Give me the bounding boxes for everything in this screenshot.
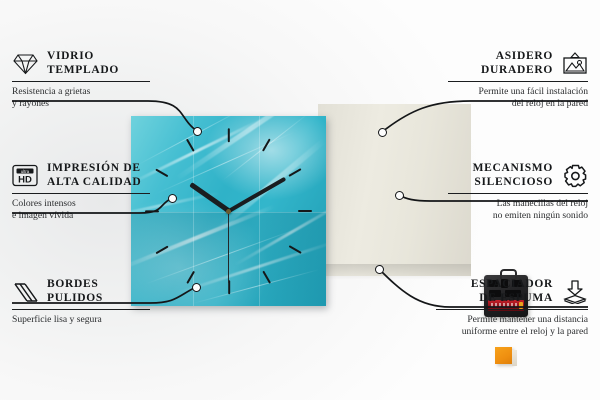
feature-vidrio-templado: VIDRIO TEMPLADO Resistencia a grietas y … [12, 50, 152, 110]
feature-description: Superficie lisa y segura [12, 314, 152, 326]
infographic-canvas: VIDRIO TEMPLADO Resistencia a grietas y … [0, 0, 600, 400]
foam-spacer [495, 347, 512, 364]
wall-hanger-icon [562, 52, 588, 76]
feature-title-line2: TEMPLADO [47, 64, 119, 76]
feature-description: Colores intensos e imagen vívida [12, 198, 152, 222]
feature-title-line2: DE ESPUMA [479, 292, 553, 304]
feature-divider [12, 81, 150, 82]
glass-wall-clock [131, 116, 326, 306]
feature-divider [436, 309, 588, 310]
feature-title-line2: ALTA CALIDAD [47, 176, 141, 188]
callout-node-bordes-pulidos [192, 283, 201, 292]
clock-tick [155, 168, 169, 177]
feature-mecanismo-silencioso: MECANISMO SILENCIOSO Las manecillas del … [448, 162, 588, 222]
callout-node-asidero-duradero [378, 128, 387, 137]
feature-divider [12, 309, 150, 310]
feature-divider [448, 193, 588, 194]
foam-spacer-icon [562, 280, 588, 304]
feature-asidero-duradero: ASIDERO DURADERO Permite una fácil insta… [448, 50, 588, 110]
feature-title-line2: DURADERO [481, 64, 553, 76]
callout-node-mecanismo-silencioso [395, 191, 404, 200]
feature-title-line1: BORDES [47, 278, 99, 290]
gear-icon [562, 164, 588, 188]
feature-description: Permite mantener una distancia uniforme … [436, 314, 588, 338]
callout-node-impresion [168, 194, 177, 203]
feature-title-line1: VIDRIO [47, 50, 94, 62]
clock-tick [227, 128, 229, 142]
feature-description: Resistencia a grietas y rayones [12, 86, 152, 110]
feature-espaciador-espuma: ESPACIADOR DE ESPUMA Permite mantener un… [436, 278, 588, 338]
feature-title-line1: MECANISMO [473, 162, 553, 174]
callout-node-vidrio-templado [193, 127, 202, 136]
diamond-icon [12, 52, 38, 76]
feature-description: Las manecillas del reloj no emiten ningú… [448, 198, 588, 222]
ultra-hd-icon-main-text: HD [18, 175, 32, 186]
feature-title-line2: SILENCIOSO [474, 176, 553, 188]
feature-title-line1: ASIDERO [496, 50, 553, 62]
ultra-hd-icon: ultra HD [12, 164, 38, 188]
feature-impresion-alta-calidad: ultra HD IMPRESIÓN DE ALTA CALIDAD Color… [12, 162, 152, 222]
product-photo [131, 104, 471, 310]
polished-edges-icon [12, 280, 38, 304]
center-cap [226, 209, 231, 214]
ultra-hd-icon-top-text: ultra [21, 169, 30, 174]
feature-divider [12, 193, 150, 194]
feature-bordes-pulidos: BORDES PULIDOS Superficie lisa y segura [12, 278, 152, 326]
feature-title-line2: PULIDOS [47, 292, 103, 304]
callout-node-espaciador-espuma [375, 265, 384, 274]
second-hand [228, 211, 229, 283]
foam-spacer-side [512, 350, 517, 366]
feature-title-line1: ESPACIADOR [471, 278, 553, 290]
feature-description: Permite una fácil instalación del reloj … [448, 86, 588, 110]
feature-title-line1: IMPRESIÓN DE [47, 162, 141, 174]
feature-divider [448, 81, 588, 82]
minute-hand [228, 177, 286, 213]
